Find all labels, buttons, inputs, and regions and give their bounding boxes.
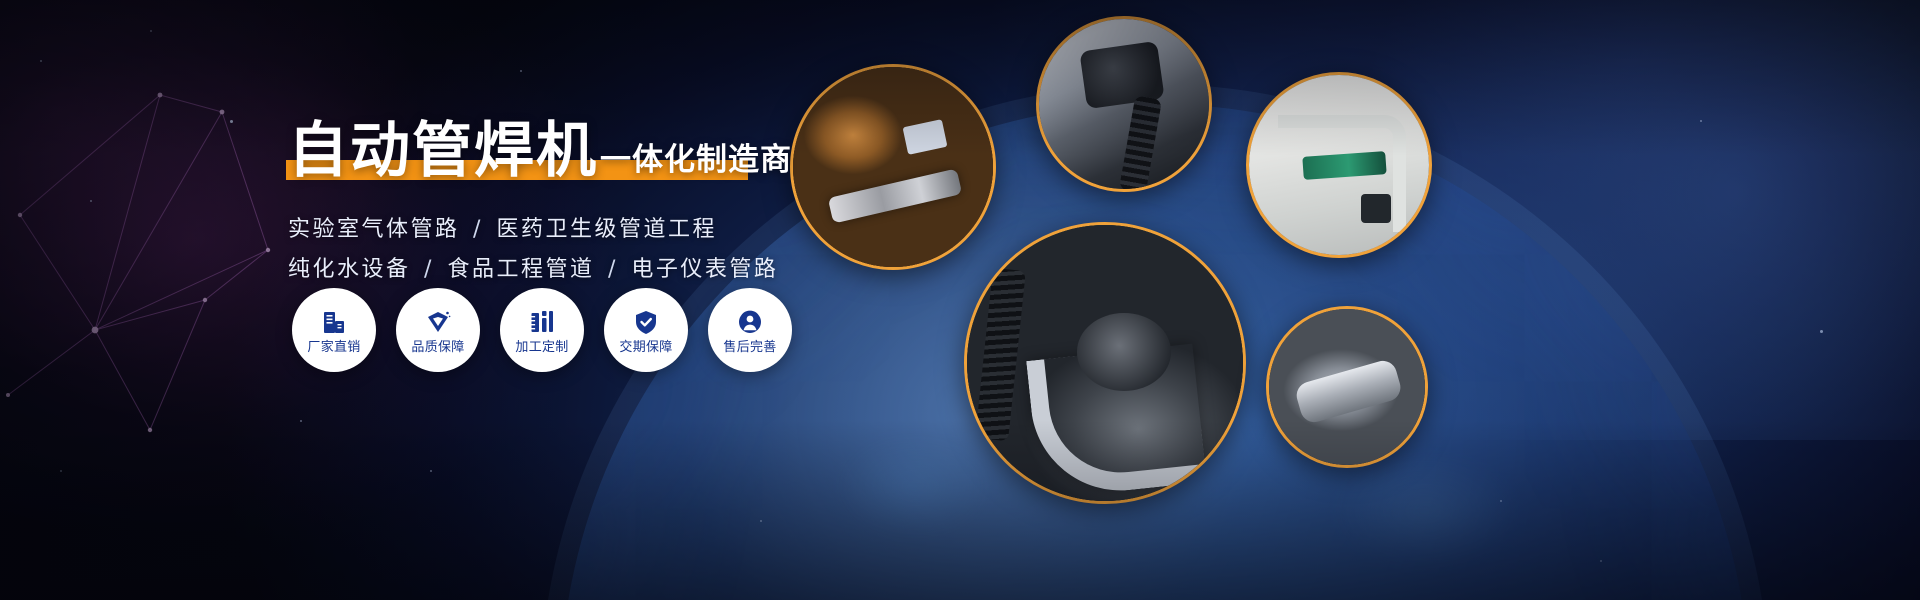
hero-headline: 自动管焊机 一体化制造商 [288, 108, 1008, 182]
subline-1-item-1: 实验室气体管路 [288, 217, 460, 242]
badge-label: 交期保障 [619, 341, 672, 355]
shield-icon [632, 306, 660, 336]
headline-main-text: 自动管焊机 [288, 120, 598, 182]
subline-1-separator-1: / [469, 217, 487, 242]
subline-2-item-2: 食品工程管道 [447, 257, 594, 282]
headset-icon [736, 306, 764, 336]
badge-label: 售后完善 [723, 341, 776, 355]
edge-vignette [0, 0, 1920, 600]
factory-icon [320, 306, 348, 336]
badge-after-sales[interactable]: 售后完善 [708, 288, 792, 372]
ruler-icon [528, 306, 556, 336]
badge-label: 加工定制 [515, 341, 568, 355]
subline-1-item-2: 医药卫生级管道工程 [496, 217, 717, 242]
headline-sub-text: 一体化制造商 [600, 143, 792, 182]
hero-sublines: 实验室气体管路 / 医药卫生级管道工程 纯化水设备 / 食品工程管道 / 电子仪… [288, 210, 1008, 290]
subline-2-separator-2: / [604, 257, 622, 282]
badge-delivery-guarantee[interactable]: 交期保障 [604, 288, 688, 372]
subline-2-item-3: 电子仪表管路 [631, 257, 778, 282]
badge-label: 厂家直销 [307, 341, 360, 355]
badge-quality-assurance[interactable]: 品质保障 [396, 288, 480, 372]
diamond-icon [424, 306, 452, 336]
badge-factory-direct[interactable]: 厂家直销 [292, 288, 376, 372]
hero-copy: 自动管焊机 一体化制造商 实验室气体管路 / 医药卫生级管道工程 纯化水设备 /… [288, 108, 1008, 290]
subline-1: 实验室气体管路 / 医药卫生级管道工程 [288, 210, 1008, 250]
badge-label: 品质保障 [411, 341, 464, 355]
subline-2-item-1: 纯化水设备 [288, 257, 411, 282]
feature-badge-list: 厂家直销 品质保障 [292, 288, 792, 372]
badge-custom-processing[interactable]: 加工定制 [500, 288, 584, 372]
subline-2-separator-1: / [420, 257, 438, 282]
hero-banner: 自动管焊机 一体化制造商 实验室气体管路 / 医药卫生级管道工程 纯化水设备 /… [0, 0, 1920, 600]
subline-2: 纯化水设备 / 食品工程管道 / 电子仪表管路 [288, 250, 1008, 290]
